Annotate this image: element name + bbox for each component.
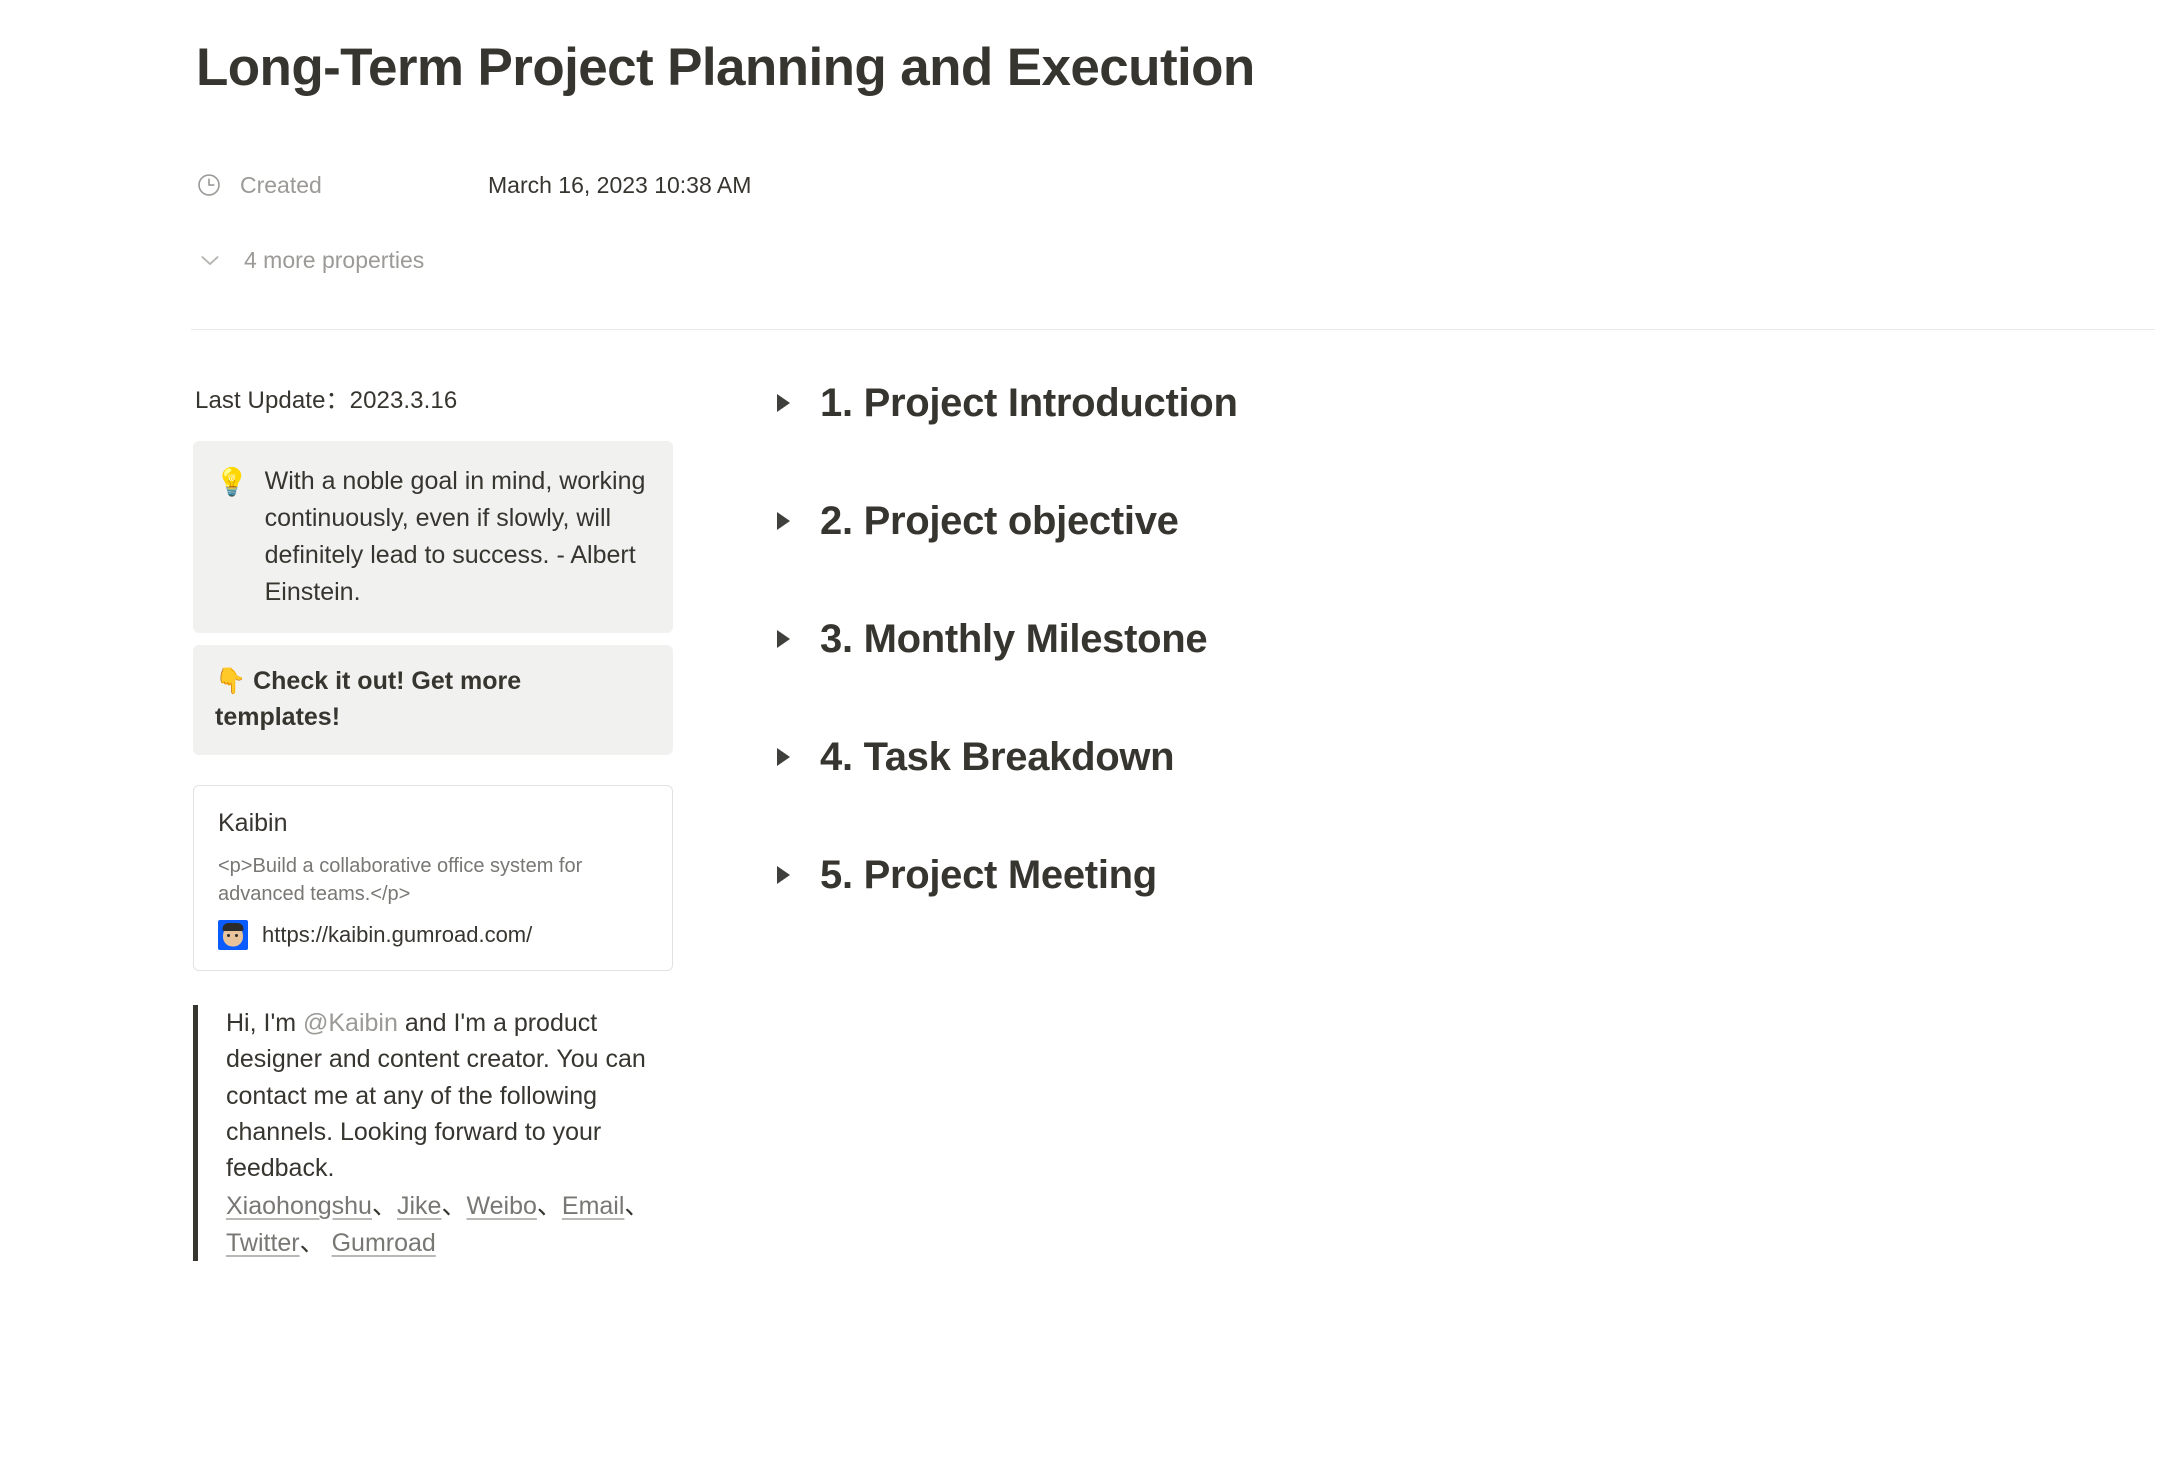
triangle-right-icon[interactable] <box>770 390 796 416</box>
triangle-right-icon[interactable] <box>770 744 796 770</box>
toggle-label: 2. Project objective <box>820 498 1179 544</box>
last-update-text: Last Update：2023.3.16 <box>193 380 673 415</box>
link-separator: 、 <box>441 1192 466 1220</box>
bookmark-url[interactable]: https://kaibin.gumroad.com/ <box>262 922 532 948</box>
link-separator: 、 <box>372 1192 397 1220</box>
link-email[interactable]: Email <box>562 1192 625 1220</box>
link-jike[interactable]: Jike <box>397 1192 441 1220</box>
property-row-created[interactable]: Created March 16, 2023 10:38 AM <box>196 166 751 204</box>
page-title: Long-Term Project Planning and Execution <box>196 36 1255 100</box>
link-xiaohongshu[interactable]: Xiaohongshu <box>226 1192 372 1220</box>
bookmark-description: <p>Build a collaborative office system f… <box>218 852 648 908</box>
light-bulb-emoji: 💡 <box>215 463 249 502</box>
promo-callout-text: 👇 Check it out! Get more templates! <box>215 663 651 735</box>
toggle-label: 5. Project Meeting <box>820 852 1157 898</box>
author-intro-before: Hi, I'm <box>226 1009 303 1037</box>
link-gumroad[interactable]: Gumroad <box>332 1229 436 1257</box>
link-separator: 、 <box>624 1192 649 1220</box>
quote-callout-text: With a noble goal in mind, working conti… <box>265 463 649 611</box>
link-twitter[interactable]: Twitter <box>226 1229 300 1257</box>
toggle-label: 1. Project Introduction <box>820 380 1238 426</box>
toggle-label: 3. Monthly Milestone <box>820 616 1207 662</box>
promo-callout-label: Check it out! Get more templates! <box>215 667 521 731</box>
triangle-right-icon[interactable] <box>770 626 796 652</box>
bookmark-title: Kaibin <box>218 808 648 838</box>
property-label-created: Created <box>196 172 488 199</box>
triangle-right-icon[interactable] <box>770 508 796 534</box>
property-name-created: Created <box>240 172 322 199</box>
more-properties-toggle[interactable]: 4 more properties <box>196 242 424 278</box>
link-separator: 、 <box>300 1229 325 1257</box>
bookmark-card[interactable]: Kaibin <p>Build a collaborative office s… <box>193 785 673 971</box>
author-blockquote: Hi, I'm @Kaibin and I'm a product design… <box>193 1005 673 1261</box>
toggle-label: 4. Task Breakdown <box>820 734 1174 780</box>
property-value-created[interactable]: March 16, 2023 10:38 AM <box>488 172 751 199</box>
link-weibo[interactable]: Weibo <box>466 1192 536 1220</box>
clock-icon <box>196 172 222 198</box>
toggle-monthly-milestone[interactable]: 3. Monthly Milestone <box>770 616 2070 662</box>
author-intro-paragraph: Hi, I'm @Kaibin and I'm a product design… <box>226 1005 673 1186</box>
quote-callout[interactable]: 💡 With a noble goal in mind, working con… <box>193 441 673 633</box>
toggle-project-objective[interactable]: 2. Project objective <box>770 498 2070 544</box>
kaibin-avatar-favicon <box>218 920 248 950</box>
left-column: Last Update：2023.3.16 💡 With a noble goa… <box>193 380 673 1261</box>
toggle-task-breakdown[interactable]: 4. Task Breakdown <box>770 734 2070 780</box>
chevron-down-icon <box>196 246 224 274</box>
more-properties-label: 4 more properties <box>244 247 424 274</box>
triangle-right-icon[interactable] <box>770 862 796 888</box>
right-column: 1. Project Introduction 2. Project objec… <box>770 380 2070 898</box>
toggle-project-introduction[interactable]: 1. Project Introduction <box>770 380 2070 426</box>
link-separator: 、 <box>537 1192 562 1220</box>
header-divider <box>191 329 2155 330</box>
author-mention[interactable]: @Kaibin <box>303 1009 398 1037</box>
author-links-paragraph: Xiaohongshu、Jike、Weibo、Email、Twitter、 Gu… <box>226 1188 673 1261</box>
down-pointing-hand-emoji: 👇 <box>215 666 246 695</box>
bookmark-link-row[interactable]: https://kaibin.gumroad.com/ <box>218 920 648 950</box>
toggle-project-meeting[interactable]: 5. Project Meeting <box>770 852 2070 898</box>
promo-callout[interactable]: 👇 Check it out! Get more templates! <box>193 645 673 755</box>
